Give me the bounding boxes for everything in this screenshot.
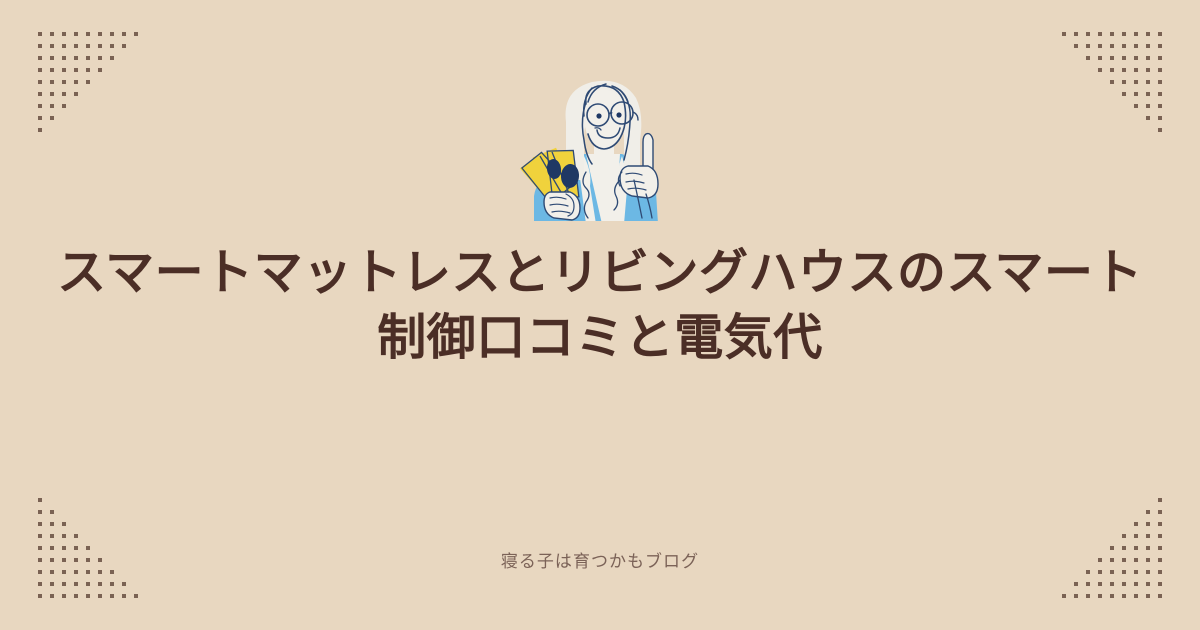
og-image-card: スマートマットレスとリビングハウスのスマート制御口コミと電気代 寝る子は育つかも…: [0, 0, 1200, 630]
hero-illustration-woman-with-money: [500, 68, 700, 224]
eye-right: [616, 112, 621, 117]
corner-dots-bottom-left: [38, 490, 146, 598]
corner-dots-top-left: [38, 32, 146, 140]
site-name: 寝る子は育つかもブログ: [0, 547, 1200, 572]
index-finger: [643, 134, 653, 170]
corner-dots-bottom-right: [1054, 490, 1162, 598]
page-title: スマートマットレスとリビングハウスのスマート制御口コミと電気代: [40, 240, 1160, 369]
corner-dots-top-right: [1054, 32, 1162, 140]
left-hand: [544, 192, 580, 220]
site-footer: 寝る子は育つかもブログ: [0, 547, 1200, 572]
title-block: スマートマットレスとリビングハウスのスマート制御口コミと電気代: [0, 240, 1200, 369]
eye-left: [596, 113, 601, 118]
